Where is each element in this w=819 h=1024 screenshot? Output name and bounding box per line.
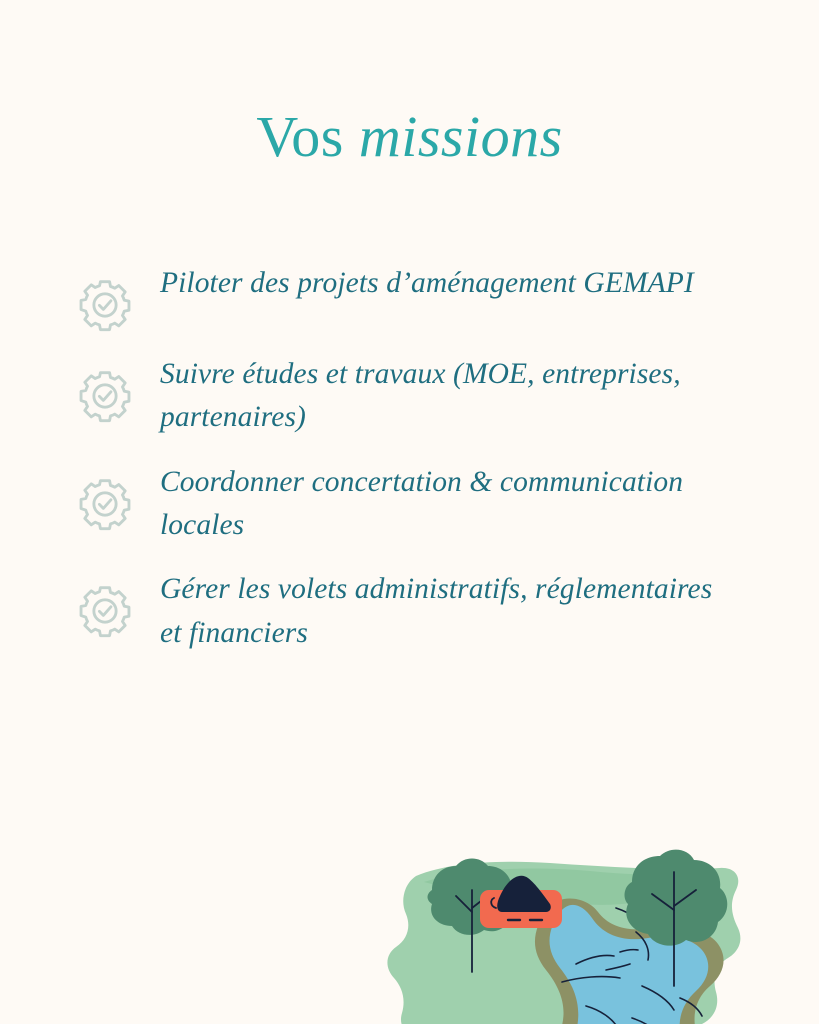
gear-check-icon bbox=[78, 369, 132, 423]
list-item-label: Coordonner concertation & communication … bbox=[160, 461, 720, 548]
gear-check-icon bbox=[78, 477, 132, 531]
title-italic: missions bbox=[359, 104, 563, 169]
river-landscape-illustration bbox=[380, 846, 760, 1024]
list-item-label: Piloter des projets d’aménagement GEMAPI bbox=[160, 262, 694, 305]
title-text: Vos missions bbox=[256, 104, 562, 169]
list-item-label: Gérer les volets administratifs, régleme… bbox=[160, 568, 720, 655]
gear-check-icon bbox=[78, 584, 132, 638]
tree-canopy bbox=[625, 850, 728, 946]
list-item: Gérer les volets administratifs, régleme… bbox=[78, 568, 738, 655]
gear-check-icon bbox=[78, 278, 132, 332]
missions-list: Piloter des projets d’aménagement GEMAPI… bbox=[78, 262, 738, 655]
slide-root: Vos missions Piloter des projets d’aména… bbox=[0, 0, 819, 1024]
list-item: Coordonner concertation & communication … bbox=[78, 461, 738, 548]
list-item: Piloter des projets d’aménagement GEMAPI bbox=[78, 262, 738, 332]
list-item-label: Suivre études et travaux (MOE, entrepris… bbox=[160, 353, 720, 440]
title-regular: Vos bbox=[256, 104, 343, 169]
list-item: Suivre études et travaux (MOE, entrepris… bbox=[78, 353, 738, 440]
page-title: Vos missions bbox=[0, 108, 819, 166]
